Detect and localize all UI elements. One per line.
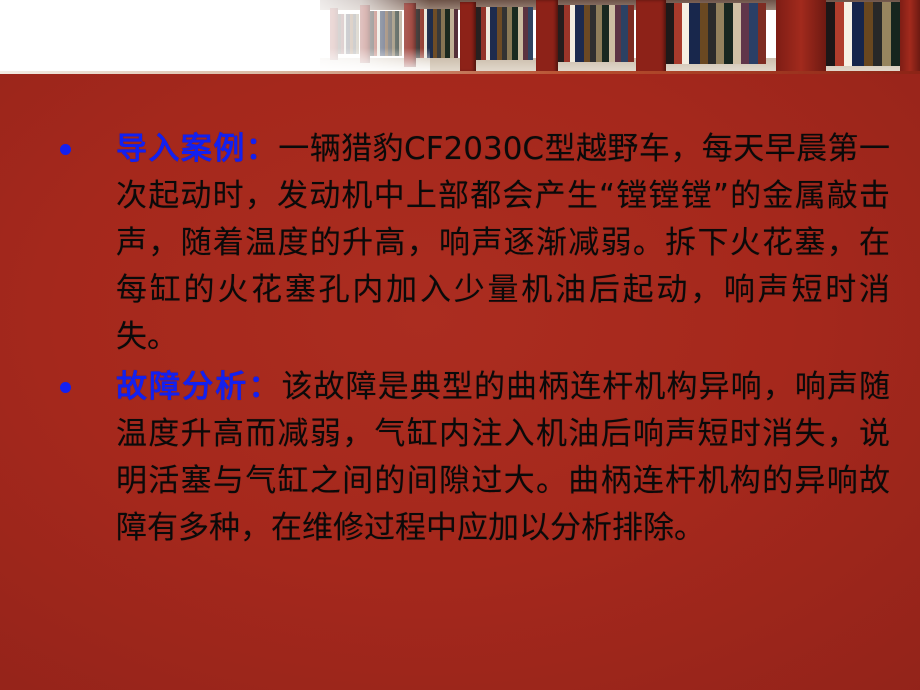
shelf-case [636,0,666,74]
bullet-lead-label-1: 导入案例： [116,131,278,167]
bullet-paragraph-1: 导入案例：一辆猎豹CF2030C型越野车，每天早晨第一次起动时，发动机中上部都会… [116,126,890,361]
presentation-slide: 导入案例：一辆猎豹CF2030C型越野车，每天早晨第一次起动时，发动机中上部都会… [0,0,920,690]
header-banner [0,0,920,74]
shelf-case [460,2,476,72]
book-row [558,5,636,62]
bullet-paragraph-2: 故障分析：该故障是典型的曲柄连杆机构异响，响声随温度升高而减弱，气缸内注入机油后… [116,364,890,552]
shelf-end-panel [900,0,920,74]
shelf-case [536,0,558,74]
shelf-end-panel [776,0,826,74]
library-bookshelves-photo [0,0,920,74]
bullet-dot-icon [60,144,71,155]
book-row [826,2,900,66]
slide-body: 导入案例：一辆猎豹CF2030C型越野车，每天早晨第一次起动时，发动机中上部都会… [0,74,920,690]
bullet-item-2: 故障分析：该故障是典型的曲柄连杆机构异响，响声随温度升高而减弱，气缸内注入机油后… [60,364,890,552]
book-row [666,3,770,64]
bullet-lead-label-2: 故障分析： [116,369,281,405]
bullet-dot-icon [60,382,71,393]
book-row [476,7,536,60]
bullet-item-1: 导入案例：一辆猎豹CF2030C型越野车，每天早晨第一次起动时，发动机中上部都会… [60,126,890,361]
